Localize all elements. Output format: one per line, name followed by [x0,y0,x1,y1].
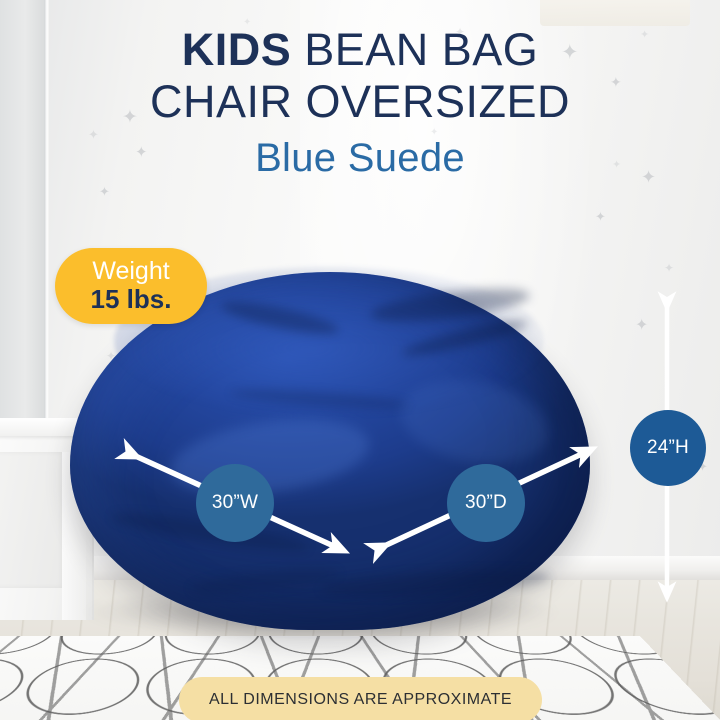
dimension-badge-width: 30”W [196,464,274,542]
dimension-badge-depth: 30”D [447,464,525,542]
title-subtitle: Blue Suede [0,128,720,188]
side-table-shelf [0,452,62,588]
disclaimer-text: ALL DIMENSIONS ARE APPROXIMATE [209,691,512,709]
star-decal: ✦ [595,210,606,223]
weight-badge: Weight 15 lbs. [55,248,207,324]
title-line-1-rest: BEAN BAG [291,24,538,75]
dimension-height-label: 24”H [647,437,689,459]
dimension-badge-height: 24”H [630,410,706,486]
disclaimer-banner: ALL DIMENSIONS ARE APPROXIMATE [179,677,542,720]
title-block: KIDS BEAN BAG CHAIR OVERSIZED Blue Suede [0,24,720,188]
title-line-2: CHAIR OVERSIZED [0,76,720,128]
title-line-1: KIDS BEAN BAG [0,24,720,76]
title-kids-word: KIDS [182,24,292,75]
product-infographic: ✦ ✦ ✦ ✦ ✦ ✦ ✦ ✦ ✦ ✦ ✦ ✦ ✦ ✦ ✦ ✦ ✦ ✦ ✦ ✦ … [0,0,720,720]
dimension-depth-label: 30”D [465,492,507,514]
weight-badge-value: 15 lbs. [91,285,172,315]
star-decal: ✦ [635,318,648,334]
star-decal: ✦ [664,262,674,274]
bean-bag-chair [70,272,590,630]
dimension-width-label: 30”W [212,492,258,514]
weight-badge-label: Weight [92,258,169,285]
window-frame-hint [540,0,690,26]
